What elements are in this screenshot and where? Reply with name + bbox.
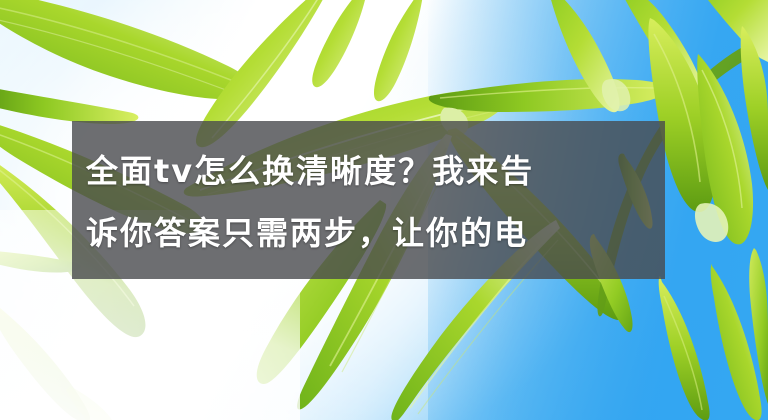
caption-line-2: 诉你答案只需两步，让你的电 [86,202,653,264]
leaf-center-right [429,79,667,112]
leaf-top-left [0,0,253,99]
caption-line-1: 全面tv怎么换清晰度？我来告 [86,140,653,202]
leaf-center-top-c [374,0,424,101]
leaf-left-slim [0,86,138,124]
leaf-center-top-b [312,0,368,87]
screenshot-root: 全面tv怎么换清晰度？我来告 诉你答案只需两步，让你的电 [0,0,768,420]
caption-overlay-band: 全面tv怎么换清晰度？我来告 诉你答案只需两步，让你的电 [72,121,665,279]
leaf-right-lower-a [659,276,710,420]
